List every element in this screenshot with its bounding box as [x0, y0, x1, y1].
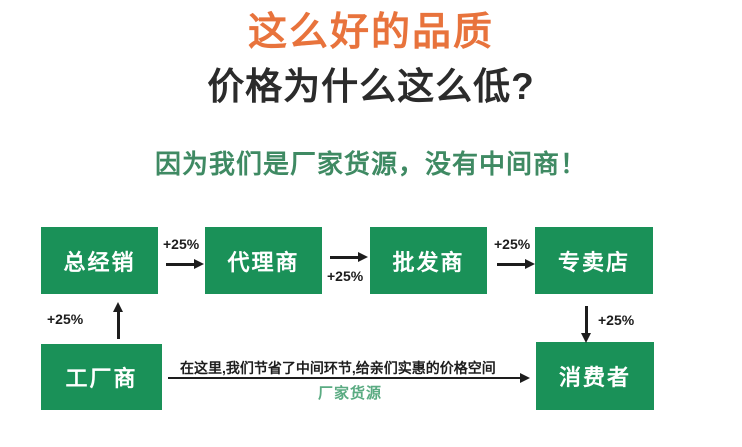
markup-factory-to-distributor-label: +25% — [47, 311, 83, 327]
box-consumer-label: 消费者 — [559, 360, 631, 392]
box-wholesaler: 批发商 — [370, 227, 487, 294]
arrow-agent-to-wholesaler-icon — [330, 256, 359, 259]
box-store-label: 专卖店 — [558, 245, 630, 277]
box-agent: 代理商 — [205, 227, 322, 294]
arrow-store-to-consumer-icon — [585, 306, 588, 334]
box-distributor-label: 总经销 — [63, 245, 135, 277]
savings-note-text: 在这里,我们节省了中间环节,给亲们实惠的价格空间 — [180, 358, 496, 378]
savings-note-source: 厂家货源 — [318, 382, 382, 403]
headline-subtitle: 因为我们是厂家货源，没有中间商！ — [0, 146, 742, 182]
markup-wholesaler-to-store-label: +25% — [494, 236, 530, 252]
box-wholesaler-label: 批发商 — [392, 245, 464, 277]
box-agent-label: 代理商 — [227, 245, 299, 277]
headline-primary: 这么好的品质 — [0, 8, 742, 58]
box-distributor: 总经销 — [41, 227, 158, 294]
arrow-wholesaler-to-store-icon — [497, 263, 526, 266]
markup-store-to-consumer-label: +25% — [598, 312, 634, 328]
box-factory: 工厂商 — [41, 344, 162, 410]
arrow-factory-to-consumer-icon — [168, 377, 521, 379]
box-factory-label: 工厂商 — [65, 361, 137, 393]
promo-banner: 这么好的品质 价格为什么这么低? 因为我们是厂家货源，没有中间商！ 总经销 代理… — [0, 0, 742, 447]
box-store: 专卖店 — [535, 227, 653, 294]
arrow-distributor-to-agent-icon — [166, 263, 195, 266]
markup-distributor-to-agent-label: +25% — [163, 236, 199, 252]
headline-secondary: 价格为什么这么低? — [0, 62, 742, 112]
arrow-factory-to-distributor-icon — [117, 311, 120, 339]
markup-agent-to-wholesaler-label: +25% — [327, 268, 363, 284]
box-consumer: 消费者 — [536, 342, 654, 410]
